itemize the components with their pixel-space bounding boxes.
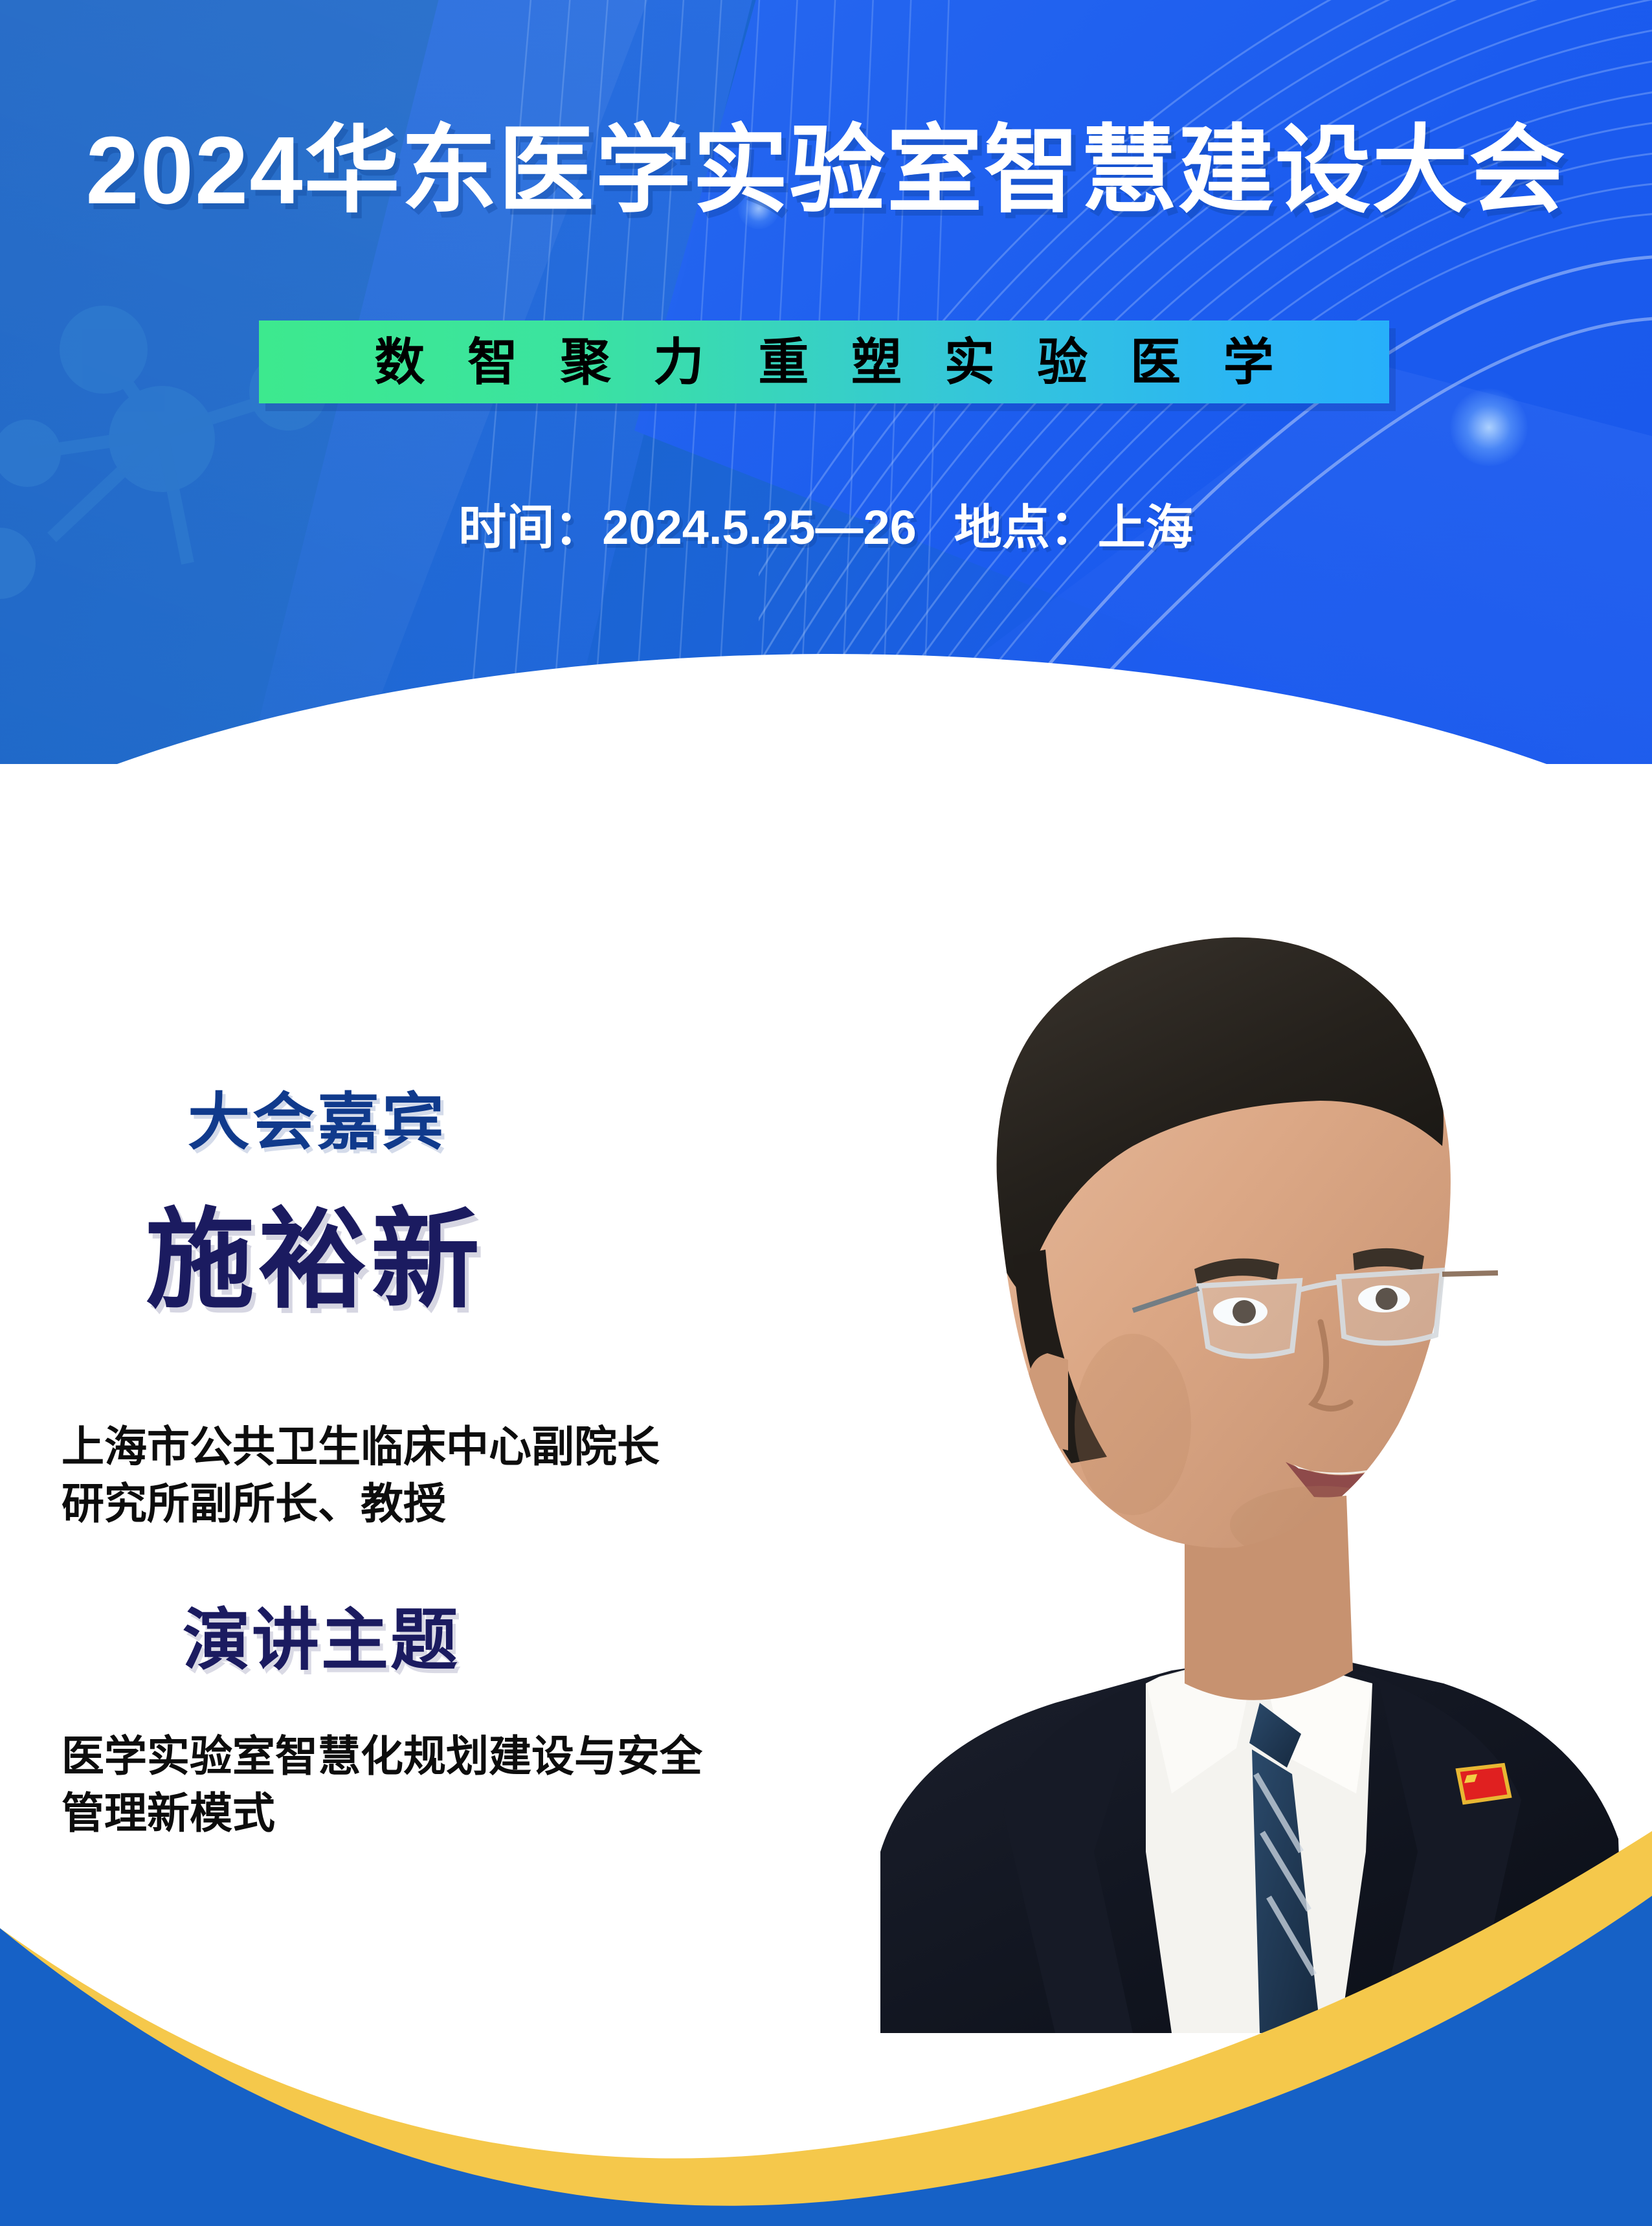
date-label: 时间：	[458, 500, 602, 554]
glow-dot-icon	[1450, 388, 1528, 466]
subtitle-part-2: 重 塑 实 验 医 学	[758, 333, 1288, 390]
poster-header: 2024华东医学实验室智慧建设大会 数 智 聚 力重 塑 实 验 医 学 时间：…	[0, 0, 1652, 764]
molecule-icon	[0, 259, 337, 622]
page-title: 2024华东医学实验室智慧建设大会	[0, 123, 1652, 219]
guest-label: 大会嘉宾	[188, 1092, 447, 1154]
speaker-title-line-1: 上海市公共卫生临床中心副院长	[61, 1418, 806, 1475]
bottom-wave-icon	[0, 1734, 1652, 2226]
speaker-titles: 上海市公共卫生临床中心副院长 研究所副所长、教授	[61, 1418, 806, 1533]
speaker-title-line-2: 研究所副所长、教授	[61, 1475, 806, 1532]
event-datetime-location: 时间：2024.5.25—26地点：上海	[0, 504, 1652, 552]
place-label: 地点：	[954, 500, 1098, 554]
speaker-name: 施裕新	[146, 1206, 484, 1314]
date-value: 2024.5.25—26	[602, 500, 917, 554]
topic-label: 演讲主题	[183, 1607, 460, 1674]
conference-poster: 2024华东医学实验室智慧建设大会 数 智 聚 力重 塑 实 验 医 学 时间：…	[0, 0, 1652, 2226]
subtitle-part-1: 数 智 聚 力	[374, 333, 718, 390]
subtitle-text: 数 智 聚 力重 塑 实 验 医 学	[360, 337, 1288, 387]
subtitle-banner: 数 智 聚 力重 塑 实 验 医 学	[259, 320, 1389, 403]
place-value: 上海	[1098, 500, 1194, 554]
